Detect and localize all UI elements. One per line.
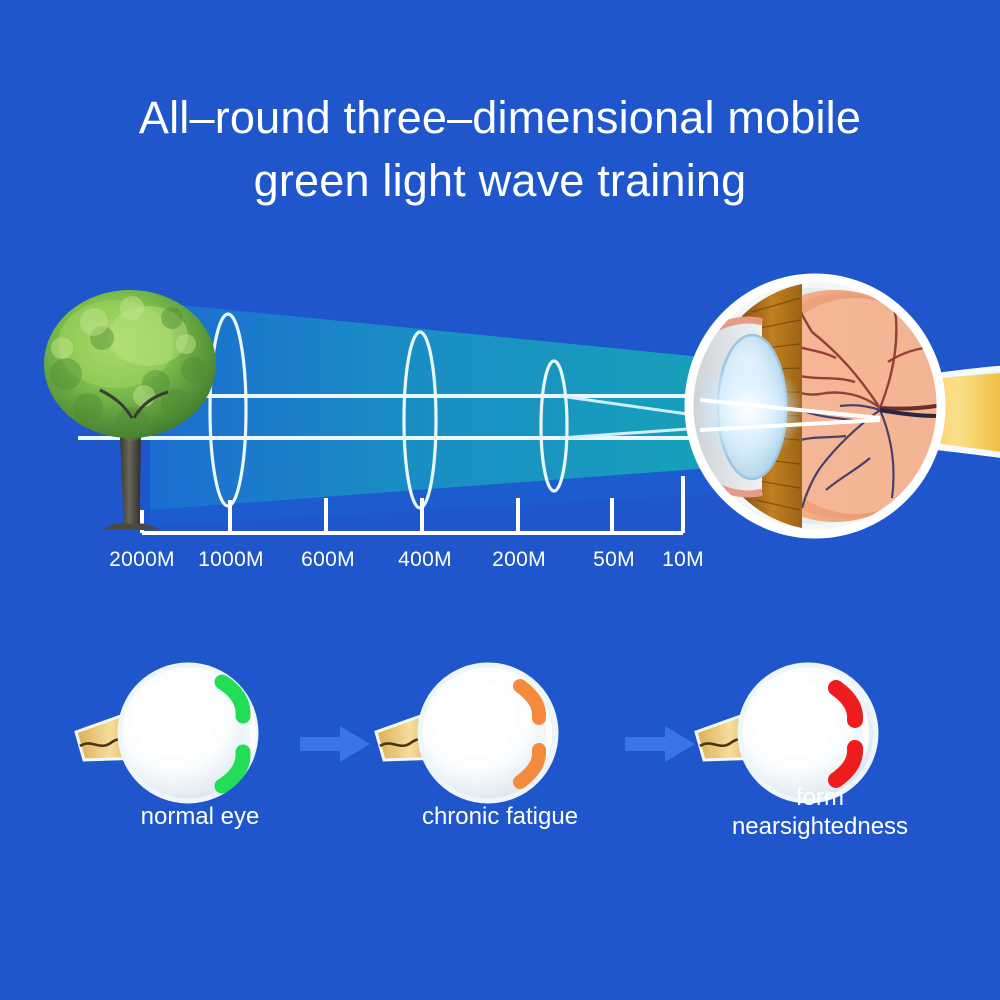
progression-arrow-2-icon [625, 724, 695, 764]
distance-label-200m: 200M [492, 548, 546, 572]
eye-highlight [752, 680, 836, 756]
tree-roots [102, 523, 160, 530]
normal-eye-icon [70, 640, 330, 825]
poster-root: All–round three–dimensional mobile green… [0, 0, 1000, 1000]
title-line-2: green light wave training [0, 149, 1000, 212]
optics-diagram [0, 258, 1000, 588]
caption-normal-eye: normal eye [30, 802, 370, 831]
stage-chronic-fatigue: chronic fatigue [370, 640, 630, 825]
distance-label-2000m: 2000M [109, 548, 175, 572]
distance-label-50m: 50M [593, 548, 635, 572]
distance-label-10m: 10M [662, 548, 704, 572]
page-title: All–round three–dimensional mobile green… [0, 86, 1000, 212]
caption-chronic-fatigue: chronic fatigue [330, 802, 670, 831]
stage-normal-eye: normal eye [70, 640, 330, 825]
eye-highlight [432, 680, 516, 756]
caption-line-1: normal eye [30, 802, 370, 831]
stage-nearsightedness: form nearsightedness [690, 640, 950, 825]
caption-nearsightedness: form nearsightedness [650, 783, 990, 841]
eye-cross-section [682, 278, 1000, 534]
progression-arrow-1-icon [300, 724, 370, 764]
title-line-1: All–round three–dimensional mobile [0, 86, 1000, 149]
distance-label-row: 2000M 1000M 600M 400M 200M 50M 10M [0, 548, 1000, 582]
caption-line-2: nearsightedness [650, 812, 990, 841]
caption-line-1: chronic fatigue [330, 802, 670, 831]
eye-highlight [132, 680, 216, 756]
eye-progression: normal eye [0, 640, 1000, 870]
chronic-fatigue-eye-icon [370, 640, 630, 825]
distance-label-600m: 600M [301, 548, 355, 572]
distance-label-400m: 400M [398, 548, 452, 572]
distance-label-1000m: 1000M [198, 548, 264, 572]
caption-line-1: form [650, 783, 990, 812]
tree-icon [36, 278, 226, 533]
